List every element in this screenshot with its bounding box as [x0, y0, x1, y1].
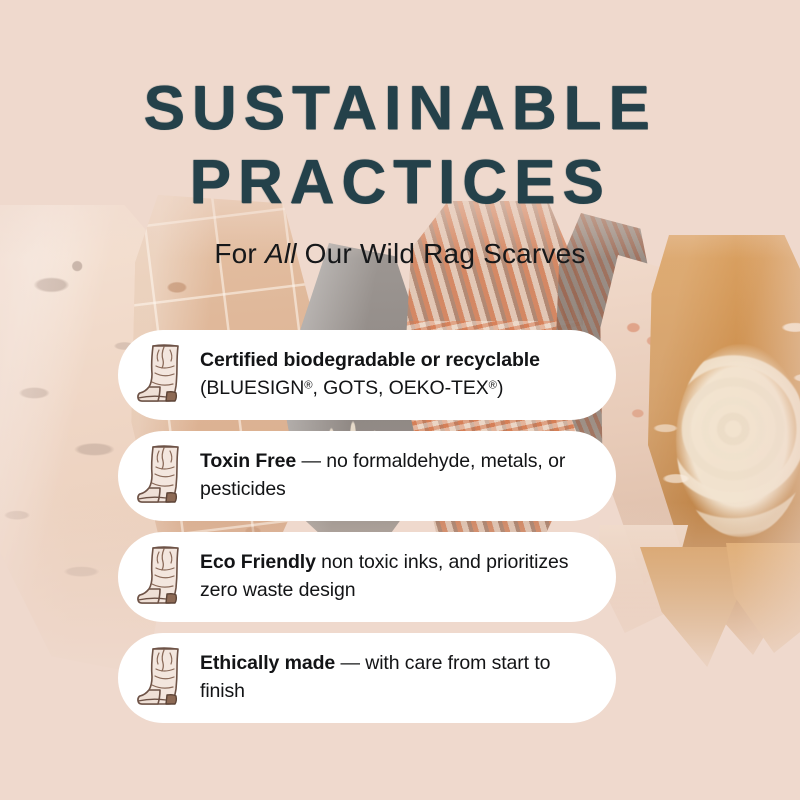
- page-subtitle: For All Our Wild Rag Scarves: [0, 238, 800, 270]
- feature-card-certified[interactable]: Certified biodegradable or recyclable (B…: [118, 330, 616, 420]
- feature-card-list: Certified biodegradable or recyclable (B…: [118, 330, 616, 723]
- cowboy-boot-icon: [136, 645, 188, 711]
- feature-bold-label: Eco Friendly: [200, 551, 316, 573]
- subtitle-emphasis: All: [265, 238, 297, 269]
- registered-mark-1: ®: [304, 380, 312, 392]
- feature-card-text: Toxin Free — no formaldehyde, metals, or…: [200, 448, 592, 503]
- feature-card-ethically-made[interactable]: Ethically made — with care from start to…: [118, 633, 616, 723]
- cowboy-boot-icon: [136, 443, 188, 509]
- subtitle-after: Our Wild Rag Scarves: [297, 238, 586, 269]
- feature-cert-prefix: (BLUESIGN: [200, 377, 304, 399]
- feature-bold-label: Ethically made: [200, 652, 335, 674]
- subtitle-before: For: [214, 238, 265, 269]
- cowboy-boot-icon: [136, 342, 188, 408]
- feature-cert-suffix: ): [497, 377, 503, 399]
- feature-card-text: Eco Friendly non toxic inks, and priorit…: [200, 549, 592, 604]
- title-line-2: PRACTICES: [0, 152, 800, 214]
- sustainable-practices-poster: SUSTAINABLE PRACTICES For All Our Wild R…: [0, 0, 800, 800]
- feature-cert-mid: , GOTS, OEKO-TEX: [313, 377, 489, 399]
- feature-card-toxin-free[interactable]: Toxin Free — no formaldehyde, metals, or…: [118, 431, 616, 521]
- feature-card-text: Ethically made — with care from start to…: [200, 650, 592, 705]
- feature-card-eco-friendly[interactable]: Eco Friendly non toxic inks, and priorit…: [118, 532, 616, 622]
- feature-card-text: Certified biodegradable or recyclable (B…: [200, 347, 540, 402]
- feature-bold-label: Certified biodegradable or recyclable: [200, 349, 540, 371]
- registered-mark-2: ®: [489, 380, 497, 392]
- cowboy-boot-icon: [136, 544, 188, 610]
- feature-bold-label: Toxin Free: [200, 450, 296, 472]
- title-line-1: SUSTAINABLE: [0, 78, 800, 140]
- page-title: SUSTAINABLE PRACTICES: [0, 78, 800, 214]
